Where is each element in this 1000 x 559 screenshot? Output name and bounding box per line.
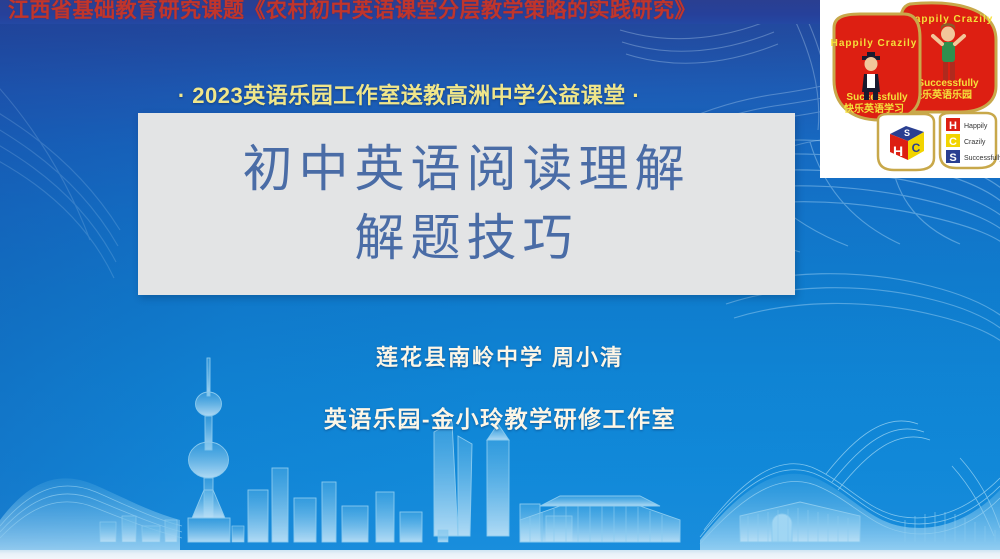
presenter-studio: 英语乐园-金小玲教学研修工作室 <box>0 400 1000 434</box>
presenter-school-and-name: 莲花县南岭中学 周小清 <box>0 340 1000 372</box>
svg-text:Crazily: Crazily <box>964 139 986 146</box>
research-project-title: 江西省基础教育研究课题《农村初中英语课堂分层教学策略的实践研究》 <box>8 0 696 24</box>
svg-text:Successfully: Successfully <box>964 155 1000 162</box>
slide-canvas: 江西省基础教育研究课题《农村初中英语课堂分层教学策略的实践研究》 · 2023英… <box>0 0 1000 559</box>
lesson-title-line-2: 解题技巧 <box>355 204 579 273</box>
svg-text:Happily Crazily: Happily Crazily <box>907 14 994 25</box>
lesson-title-line-1: 初中英语阅读理解 <box>243 135 691 204</box>
svg-text:S: S <box>949 152 956 164</box>
bottom-light-strip <box>0 550 1000 559</box>
svg-text:H: H <box>893 143 903 159</box>
logo-letter-cube: H C S <box>878 114 934 170</box>
svg-text:S: S <box>904 128 910 138</box>
studio-logo-inset: Happily Crazily Successfully 快乐英语乐园 Happ <box>820 0 1000 178</box>
svg-text:Happily Crazily: Happily Crazily <box>831 38 918 49</box>
svg-text:C: C <box>949 136 957 148</box>
event-subtitle: · 2023英语乐园工作室送教高洲中学公益课堂 · <box>0 78 818 110</box>
svg-text:C: C <box>912 141 921 155</box>
presenter-block: 莲花县南岭中学 周小清 英语乐园-金小玲教学研修工作室 <box>0 340 1000 434</box>
svg-text:Successfully: Successfully <box>917 78 979 89</box>
title-card: 初中英语阅读理解 解题技巧 <box>138 113 795 295</box>
studio-logo-graphic: Happily Crazily Successfully 快乐英语乐园 Happ <box>820 0 1000 178</box>
logo-legend: H Happily C Crazily S Successfully <box>940 113 1000 168</box>
svg-text:H: H <box>949 120 957 132</box>
logo-badge-left: Happily Crazily Successfully 快乐英语学习 <box>831 14 920 120</box>
svg-text:Happily: Happily <box>964 123 988 130</box>
